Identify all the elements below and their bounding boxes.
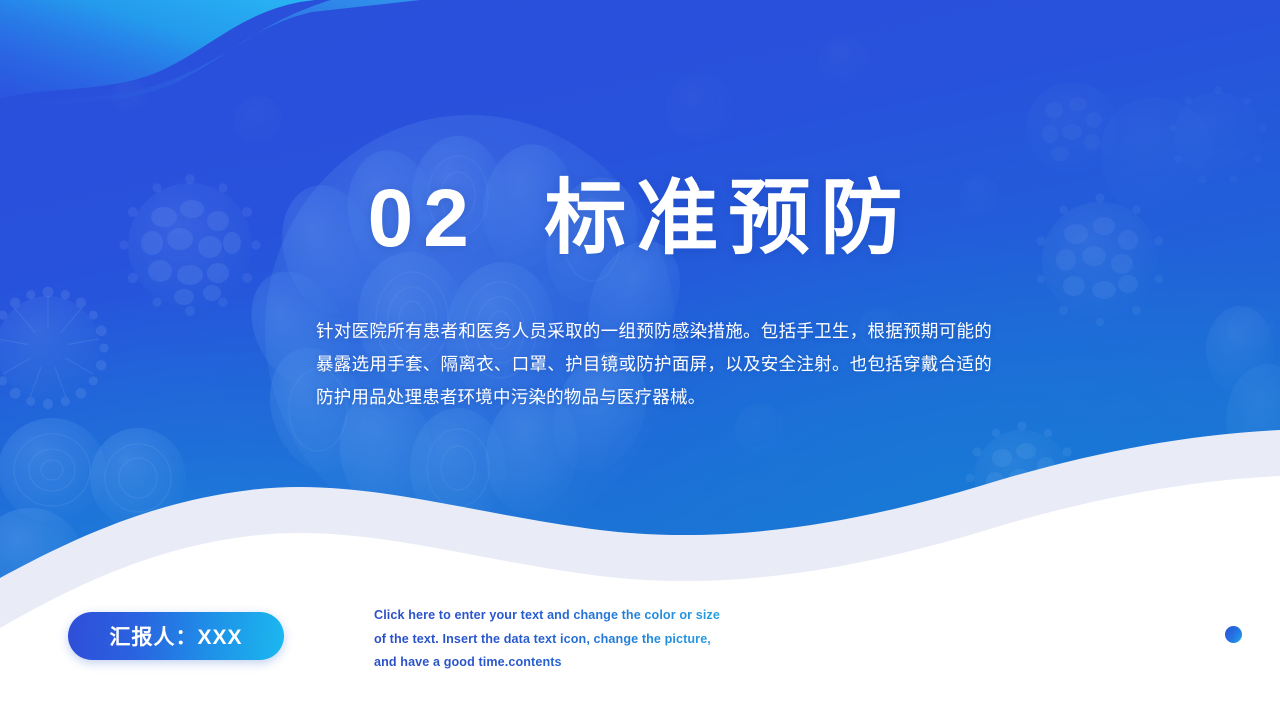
- presentation-slide: 02 标准预防 针对医院所有患者和医务人员采取的一组预防感染措施。包括手卫生，根…: [0, 0, 1280, 720]
- reporter-label: 汇报人：XXX: [109, 621, 242, 651]
- reporter-badge[interactable]: 汇报人：XXX: [68, 612, 284, 660]
- english-text-line-3: and have a good time.contents: [374, 651, 754, 675]
- english-text-line-2: of the text. Insert the data text icon, …: [374, 628, 754, 652]
- english-text-line-1: Click here to enter your text and change…: [374, 604, 754, 628]
- english-placeholder-text: Click here to enter your text and change…: [374, 604, 754, 675]
- page-title: 02 标准预防: [0, 176, 1280, 262]
- accent-dot: [1225, 626, 1242, 643]
- body-paragraph: 针对医院所有患者和医务人员采取的一组预防感染措施。包括手卫生，根据预期可能的暴露…: [316, 315, 992, 414]
